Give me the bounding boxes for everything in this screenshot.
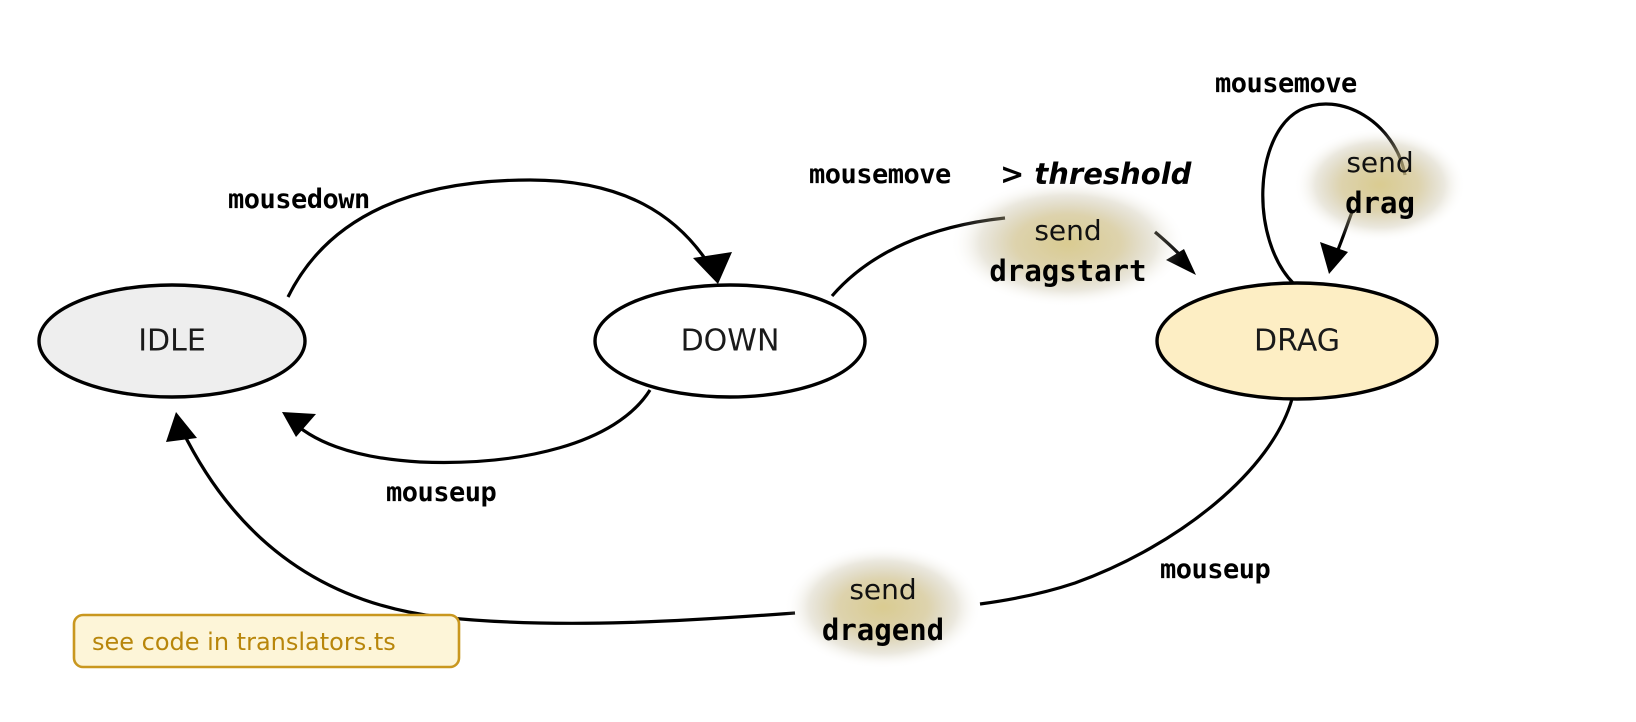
state-node-down[interactable]: DOWN: [595, 285, 865, 397]
note-box[interactable]: see code in translators.ts: [74, 615, 459, 667]
arrowhead-drag-self-loop: [1320, 242, 1348, 274]
arrowhead-idle-to-down: [693, 252, 732, 284]
state-label-drag: DRAG: [1254, 324, 1340, 359]
arrowhead-down-to-idle: [282, 412, 316, 437]
edge-label-mousemove-threshold-event: mousemove: [809, 159, 951, 190]
action-verb-dragend: send: [849, 573, 916, 606]
action-verb-dragstart: send: [1034, 214, 1101, 247]
state-node-idle[interactable]: IDLE: [39, 285, 305, 397]
state-machine-diagram: IDLE DOWN DRAG mousedown mouseup mousemo…: [0, 0, 1636, 722]
edge-label-mousemove-self: mousemove: [1215, 68, 1357, 99]
state-node-drag[interactable]: DRAG: [1157, 283, 1437, 399]
edge-label-mousedown: mousedown: [228, 184, 370, 215]
action-name-dragend: dragend: [822, 613, 944, 647]
action-verb-drag: send: [1346, 146, 1413, 179]
edge-label-mouseup-drag-idle: mouseup: [1160, 554, 1271, 585]
diagram-canvas: IDLE DOWN DRAG mousedown mouseup mousemo…: [0, 0, 1636, 722]
state-label-idle: IDLE: [138, 324, 206, 359]
edge-label-mouseup-down-idle: mouseup: [386, 477, 497, 508]
action-name-drag: drag: [1345, 186, 1415, 220]
edge-down-to-idle: [282, 390, 650, 462]
arrowhead-drag-to-idle: [166, 412, 197, 442]
action-glow-dragend: [784, 545, 982, 669]
state-label-down: DOWN: [681, 324, 780, 359]
edge-drag-to-idle: [166, 399, 1292, 623]
note-box-text: see code in translators.ts: [92, 628, 396, 656]
action-name-dragstart: dragstart: [989, 254, 1146, 288]
